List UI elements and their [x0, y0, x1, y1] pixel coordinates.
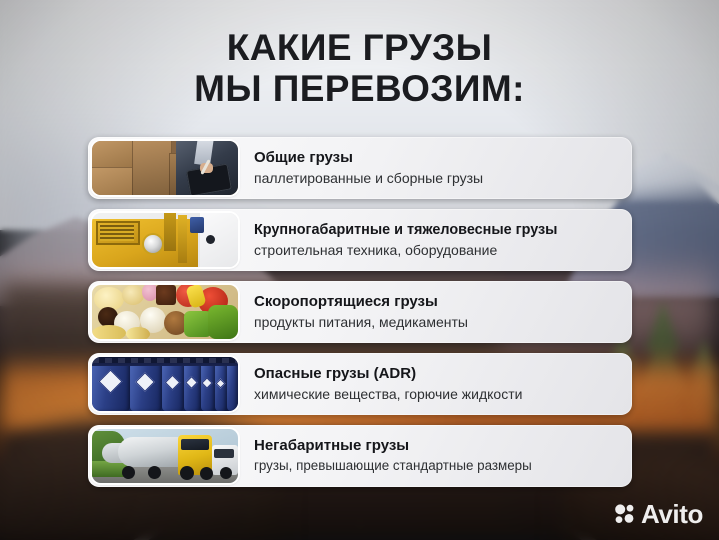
thumb-hazardous-adr-drums [92, 357, 238, 411]
list-item[interactable]: Крупногабаритные и тяжеловесные грузы ст… [88, 209, 632, 271]
list-item-subtitle: паллетированные и сборные грузы [254, 169, 622, 187]
list-item-subtitle: строительная техника, оборудование [254, 241, 622, 259]
list-item-text: Общие грузы паллетированные и сборные гр… [238, 149, 632, 187]
list-item-title: Опасные грузы (ADR) [254, 365, 622, 383]
avito-dots-logo-icon [614, 503, 636, 525]
cargo-type-list: Общие грузы паллетированные и сборные гр… [88, 137, 632, 497]
list-item-title: Общие грузы [254, 149, 622, 167]
thumb-perishable-food [92, 285, 238, 339]
list-item-text: Опасные грузы (ADR) химические вещества,… [238, 365, 632, 403]
thumb-oversized-heavy-machinery [92, 213, 238, 267]
list-item-title: Скоропортящиеся грузы [254, 293, 622, 311]
thumb-general-cargo-boxes [92, 141, 238, 195]
page-title-line-1: КАКИЕ ГРУЗЫ [227, 27, 492, 68]
page-title: КАКИЕ ГРУЗЫ МЫ ПЕРЕВОЗИМ: [0, 27, 719, 109]
content-layer: КАКИЕ ГРУЗЫ МЫ ПЕРЕВОЗИМ: Общие грузы па… [0, 0, 719, 540]
list-item[interactable]: Скоропортящиеся грузы продукты питания, … [88, 281, 632, 343]
avito-wordmark: Avito [641, 501, 703, 527]
list-item[interactable]: Общие грузы паллетированные и сборные гр… [88, 137, 632, 199]
list-item-subtitle: химические вещества, горючие жидкости [254, 385, 622, 403]
list-item-text: Негабаритные грузы грузы, превышающие ст… [238, 437, 632, 475]
list-item-subtitle: продукты питания, медикаменты [254, 313, 622, 331]
list-item-text: Крупногабаритные и тяжеловесные грузы ст… [238, 221, 632, 259]
list-item[interactable]: Опасные грузы (ADR) химические вещества,… [88, 353, 632, 415]
list-item-title: Негабаритные грузы [254, 437, 622, 455]
list-item[interactable]: Негабаритные грузы грузы, превышающие ст… [88, 425, 632, 487]
thumb-oversized-tanker-convoy [92, 429, 238, 483]
list-item-title: Крупногабаритные и тяжеловесные грузы [254, 221, 622, 239]
page-title-line-2: МЫ ПЕРЕВОЗИМ: [0, 68, 719, 109]
list-item-text: Скоропортящиеся грузы продукты питания, … [238, 293, 632, 331]
list-item-subtitle: грузы, превышающие стандартные размеры [254, 457, 622, 475]
avito-watermark: Avito [614, 501, 703, 527]
